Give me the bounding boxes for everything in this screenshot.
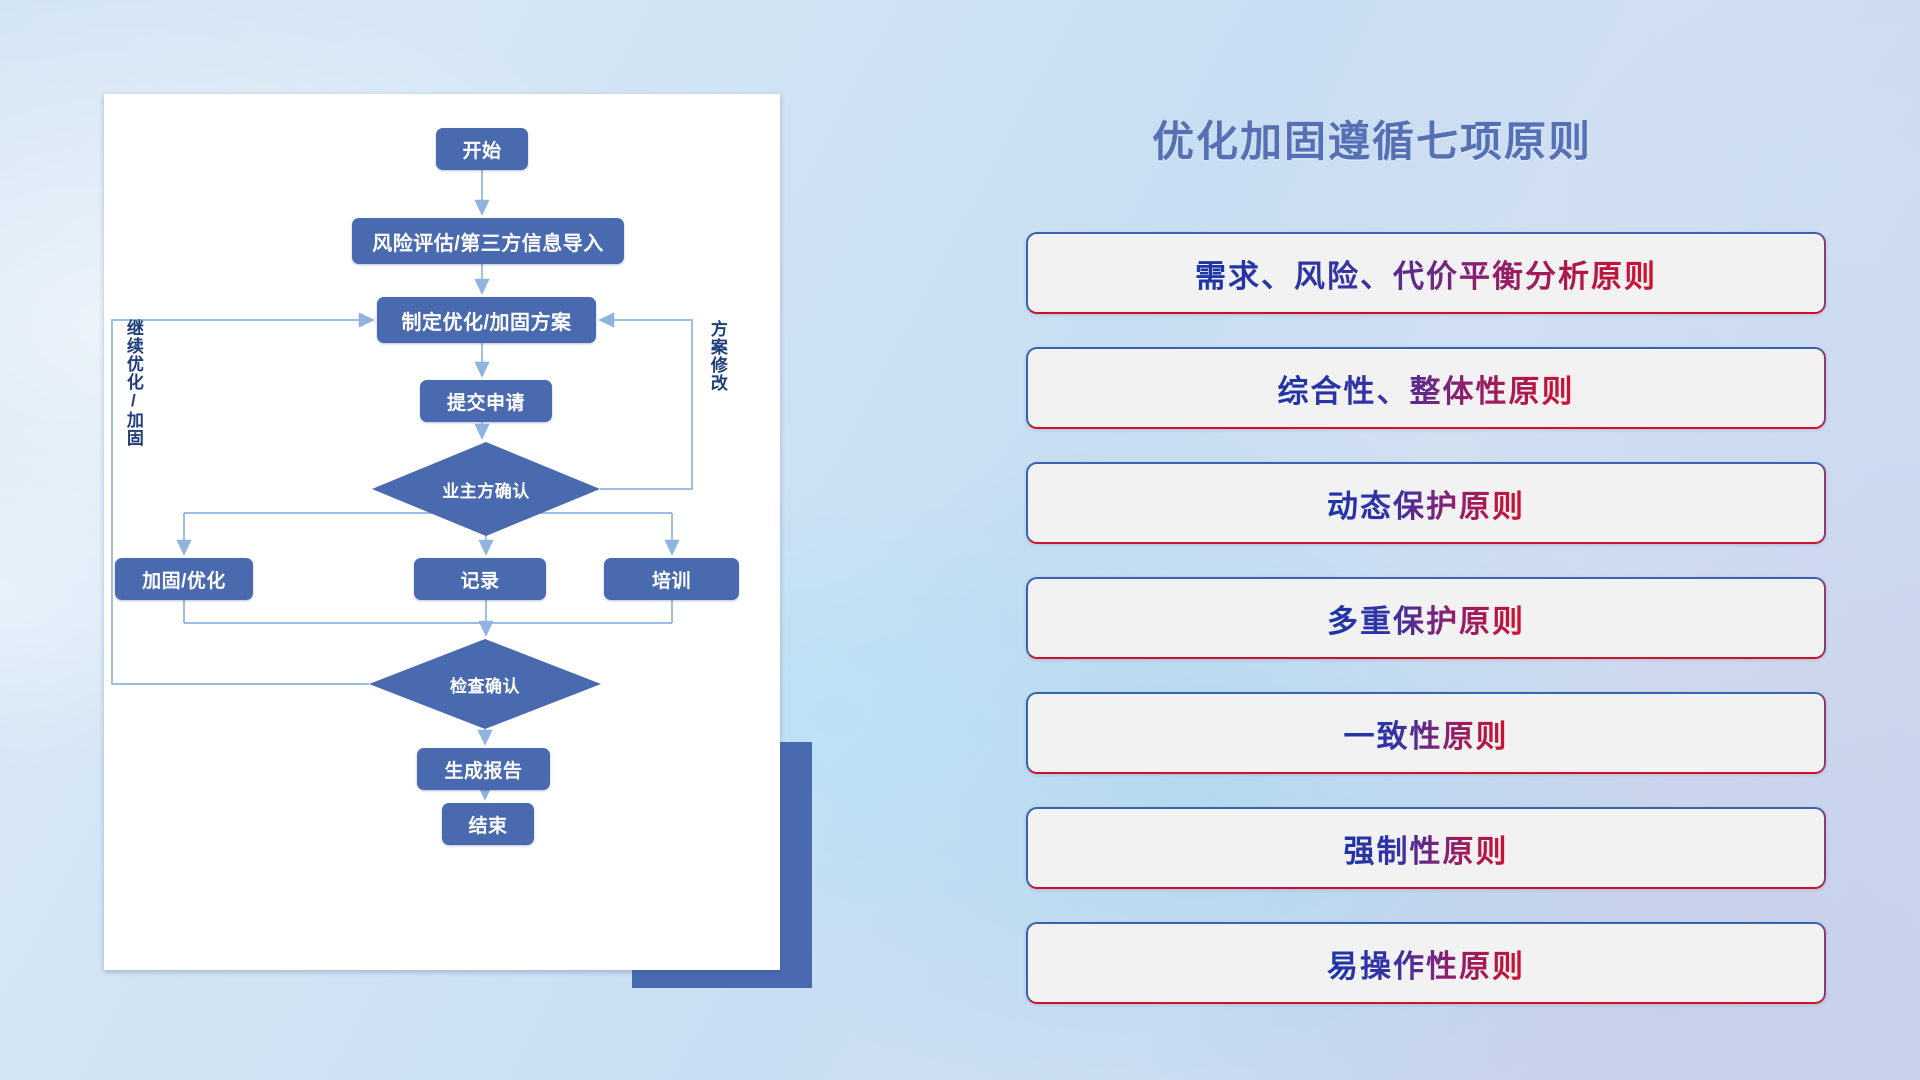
flow-node-label: 检查确认 [450, 672, 520, 697]
flow-node-label: 加固/优化 [142, 566, 226, 593]
flow-node-label: 生成报告 [444, 756, 522, 783]
flow-node-label: 结束 [468, 811, 507, 838]
principle-card-label: 强制性原则 [1344, 826, 1509, 871]
principle-card: 易操作性原则 [1026, 922, 1826, 1004]
flow-node-label: 制定优化/加固方案 [401, 306, 571, 335]
principle-card: 动态保护原则 [1026, 462, 1826, 544]
principle-card-label: 易操作性原则 [1327, 941, 1525, 986]
principle-card: 需求、风险、代价平衡分析原则 [1026, 232, 1826, 314]
flow-label-left-loop: 继续优化/加固 [124, 319, 142, 447]
flow-node-label: 培训 [652, 566, 691, 593]
flow-node-label: 业主方确认 [442, 477, 530, 502]
flow-node-reinf: 加固/优化 [115, 558, 253, 600]
principle-card: 强制性原则 [1026, 807, 1826, 889]
flow-node-plan: 制定优化/加固方案 [377, 297, 596, 343]
principles-list: 需求、风险、代价平衡分析原则综合性、整体性原则动态保护原则多重保护原则一致性原则… [1026, 232, 1826, 1037]
principle-card-label: 需求、风险、代价平衡分析原则 [1195, 251, 1657, 296]
flow-label-right-loop: 方案修改 [708, 320, 726, 392]
flowchart-sheet: 开始风险评估/第三方信息导入制定优化/加固方案提交申请业主方确认加固/优化记录培… [104, 94, 780, 970]
principle-card: 多重保护原则 [1026, 577, 1826, 659]
flow-node-risk: 风险评估/第三方信息导入 [352, 218, 624, 264]
principle-card: 综合性、整体性原则 [1026, 347, 1826, 429]
principle-card-label: 综合性、整体性原则 [1278, 366, 1575, 411]
principle-card-label: 多重保护原则 [1327, 596, 1525, 641]
flow-node-end: 结束 [442, 803, 534, 845]
flow-node-apply: 提交申请 [420, 380, 552, 422]
flow-node-record: 记录 [414, 558, 546, 600]
page-title: 优化加固遵循七项原则 [1152, 108, 1592, 169]
flow-node-report: 生成报告 [417, 748, 550, 790]
flow-node-start: 开始 [436, 128, 528, 170]
flow-node-label: 风险评估/第三方信息导入 [372, 227, 604, 256]
principle-card-label: 动态保护原则 [1327, 481, 1525, 526]
principle-card-label: 一致性原则 [1344, 711, 1509, 756]
flow-node-train: 培训 [604, 558, 739, 600]
flow-node-label: 提交申请 [447, 388, 525, 415]
flow-node-label: 记录 [460, 566, 499, 593]
flow-node-label: 开始 [462, 136, 501, 163]
principle-card: 一致性原则 [1026, 692, 1826, 774]
